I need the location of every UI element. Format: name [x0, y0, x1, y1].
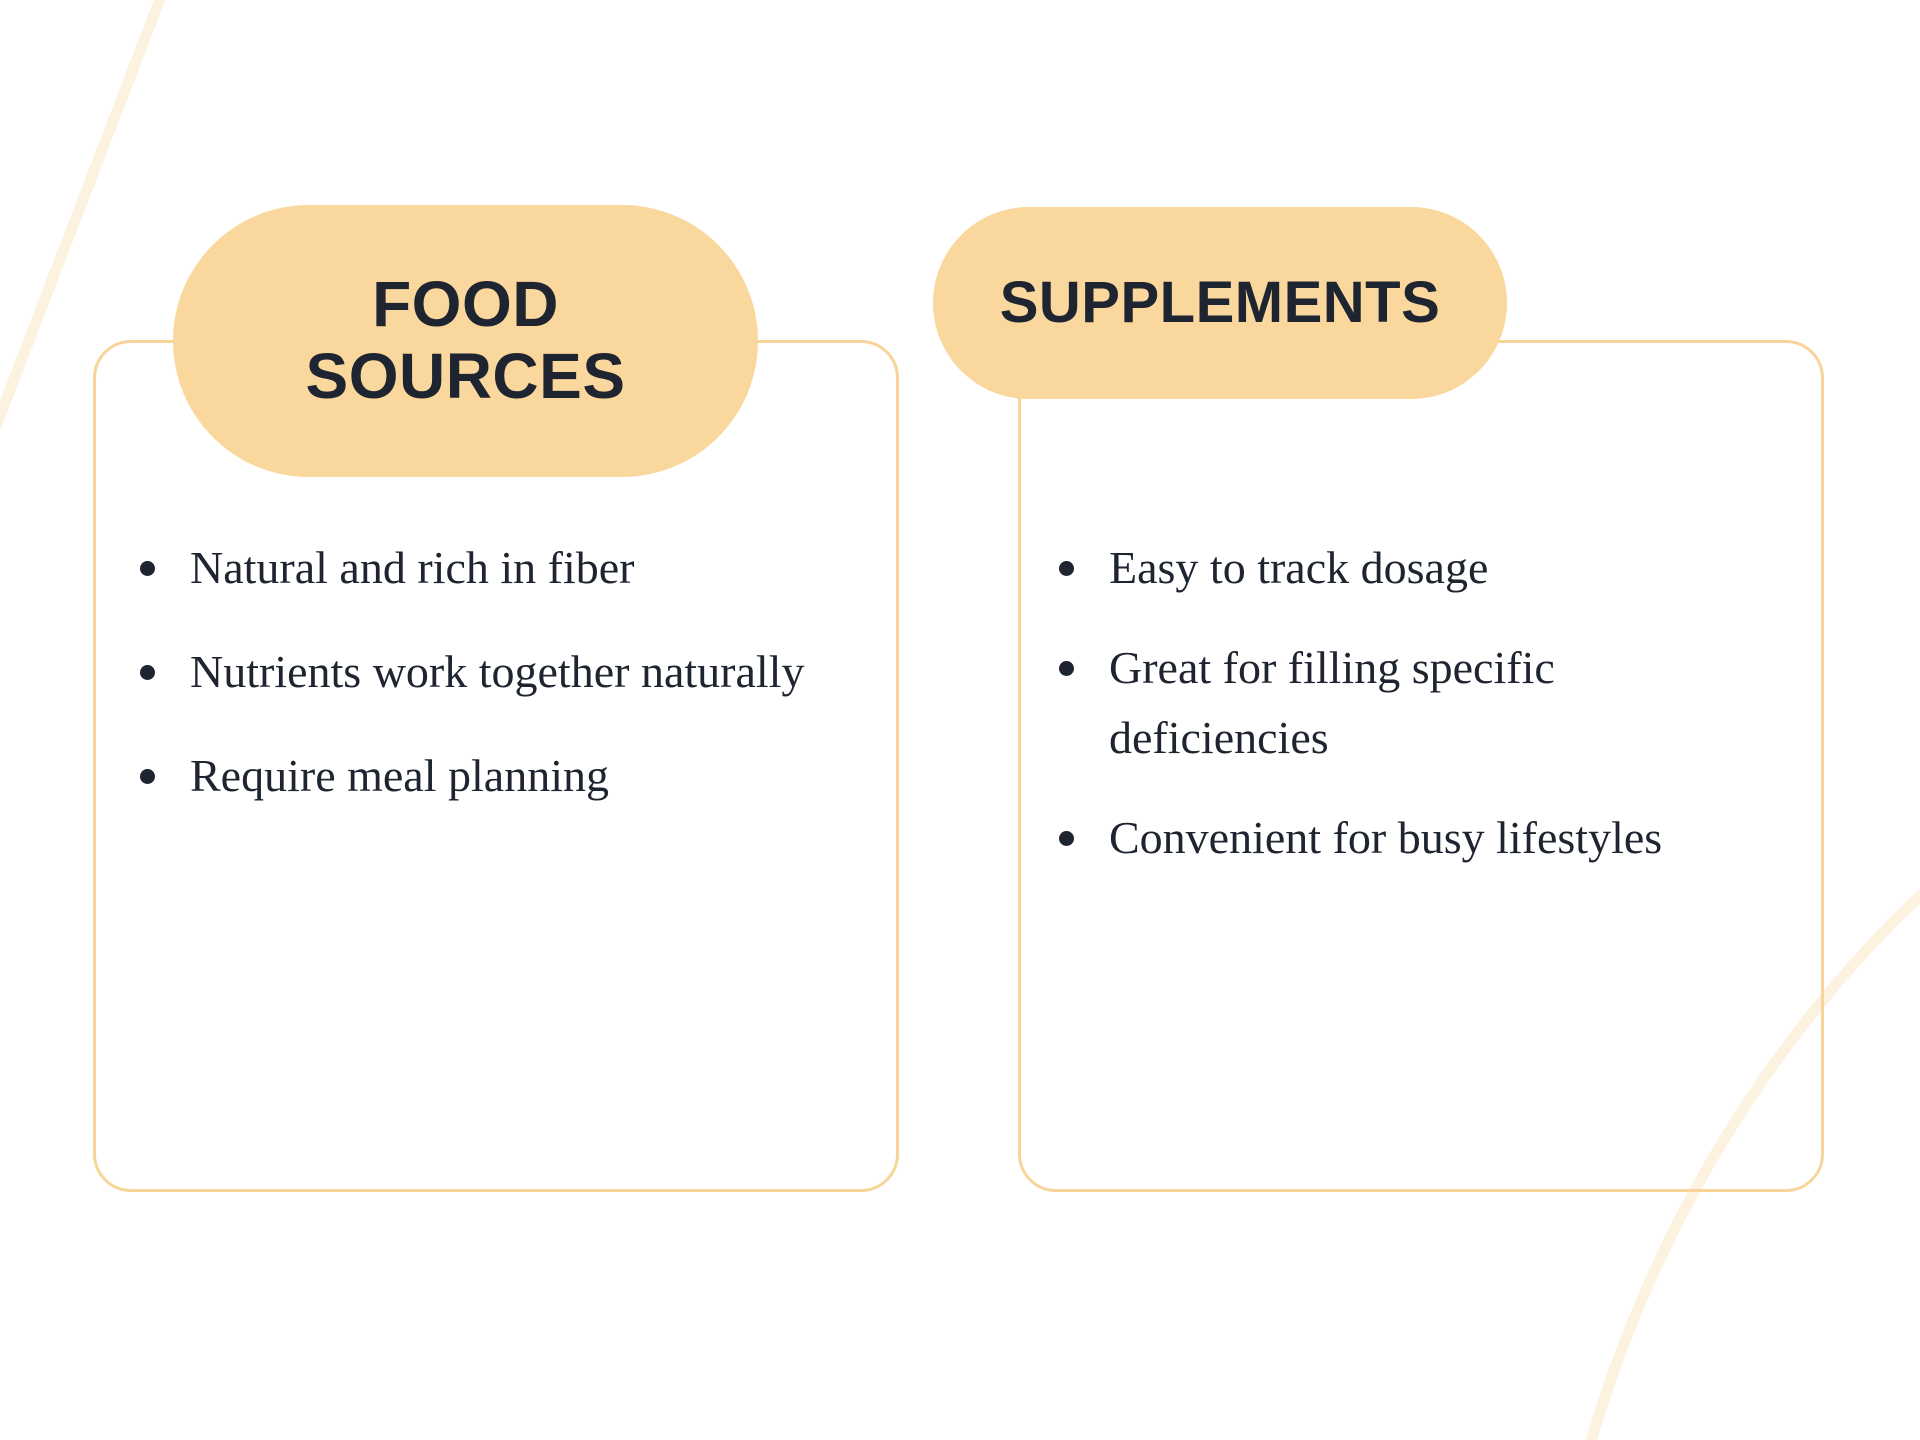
list-item-label: Great for filling specific deficiencies — [1109, 642, 1555, 763]
list-item: Nutrients work together naturally — [118, 637, 860, 707]
list-item: Require meal planning — [118, 741, 860, 811]
comparison-grid: FOOD SOURCES Natural and rich in fiber N… — [0, 0, 1920, 1440]
list-item-label: Convenient for busy lifestyles — [1109, 812, 1662, 863]
slide-canvas: FOOD SOURCES Natural and rich in fiber N… — [0, 0, 1920, 1440]
card-header-pill-food-sources: FOOD SOURCES — [173, 205, 758, 477]
bullet-dot-icon — [1059, 561, 1074, 576]
list-item: Easy to track dosage — [1043, 533, 1785, 603]
bullet-dot-icon — [1059, 661, 1074, 676]
list-item-label: Easy to track dosage — [1109, 542, 1488, 593]
list-item-label: Require meal planning — [190, 750, 609, 801]
bullet-dot-icon — [140, 769, 155, 784]
list-item: Natural and rich in fiber — [118, 533, 860, 603]
bullet-dot-icon — [140, 665, 155, 680]
card-header-pill-supplements: SUPPLEMENTS — [933, 207, 1507, 399]
list-item: Convenient for busy lifestyles — [1043, 803, 1785, 873]
bullet-list-supplements: Easy to track dosage Great for filling s… — [1043, 533, 1785, 873]
bullet-list-food-sources: Natural and rich in fiber Nutrients work… — [118, 533, 860, 811]
card-title-supplements: SUPPLEMENTS — [1000, 271, 1441, 336]
list-item-label: Nutrients work together naturally — [190, 646, 804, 697]
list-item: Great for filling specific deficiencies — [1043, 633, 1785, 773]
card-title-food-sources: FOOD SOURCES — [207, 269, 724, 412]
bullet-dot-icon — [1059, 831, 1074, 846]
comparison-card-supplements: SUPPLEMENTS Easy to track dosage Great f… — [1018, 340, 1824, 1192]
list-item-label: Natural and rich in fiber — [190, 542, 634, 593]
card-body-supplements: Easy to track dosage Great for filling s… — [1021, 533, 1821, 903]
card-body-food-sources: Natural and rich in fiber Nutrients work… — [96, 533, 896, 811]
comparison-card-food-sources: FOOD SOURCES Natural and rich in fiber N… — [93, 340, 899, 1192]
bullet-dot-icon — [140, 561, 155, 576]
